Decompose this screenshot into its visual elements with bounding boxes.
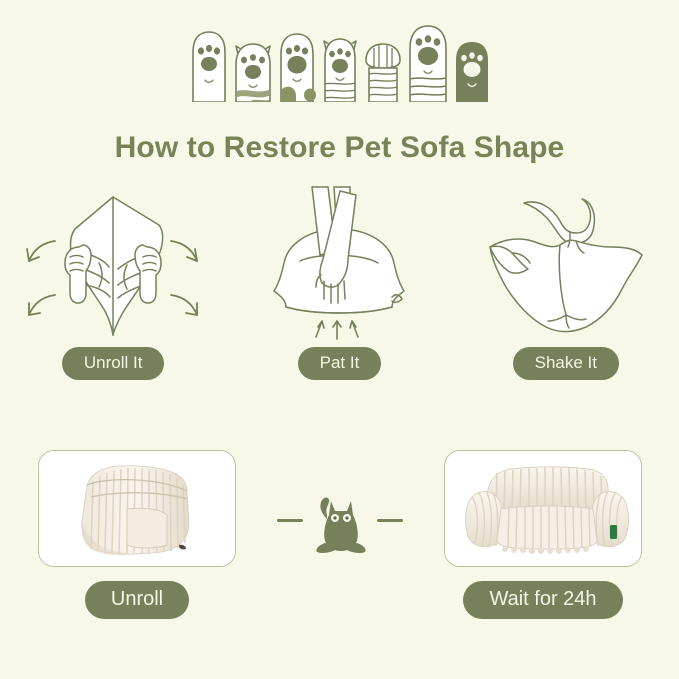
- pat-it-illustration: [244, 182, 434, 347]
- unroll-it-illustration: [13, 182, 213, 347]
- step-label-unroll-it: Unroll It: [62, 347, 165, 380]
- paw-spotted-icon: [277, 32, 317, 102]
- photo-block-unroll: Unroll: [37, 450, 237, 619]
- shake-it-illustration: [466, 182, 666, 347]
- photo-label-wait-24h: Wait for 24h: [463, 581, 622, 619]
- paw-solid-dark-icon: [453, 40, 491, 102]
- step-unroll-it: Unroll It: [6, 182, 221, 380]
- cat-mascot-icon: [309, 485, 371, 555]
- photo-card-wait-24h: [444, 450, 642, 567]
- folded-pet-sofa-image: [39, 451, 235, 566]
- photo-card-unroll: [38, 450, 236, 567]
- step-shake-it: Shake It: [458, 182, 673, 380]
- paw-plain-left-icon: [189, 30, 229, 102]
- cat-paws-banner: [0, 22, 679, 102]
- paw-toes-striped-icon: [363, 42, 403, 102]
- connector-dash-right: [377, 519, 403, 522]
- paw-striped-ears-icon: [232, 38, 274, 102]
- photo-label-unroll: Unroll: [85, 581, 189, 619]
- page-title: How to Restore Pet Sofa Shape: [0, 131, 679, 165]
- connector-dash-left: [277, 519, 303, 522]
- paw-striped-tall-icon: [320, 34, 360, 102]
- photo-block-wait-24h: Wait for 24h: [443, 450, 643, 619]
- step-label-shake-it: Shake It: [513, 347, 619, 380]
- steps-row: Unroll It: [0, 182, 679, 392]
- step-pat-it: Pat It: [232, 182, 447, 380]
- restored-pet-sofa-image: [445, 451, 641, 566]
- flow-connector: [258, 470, 421, 570]
- step-label-pat-it: Pat It: [298, 347, 382, 380]
- paw-striped-big-icon: [406, 24, 450, 102]
